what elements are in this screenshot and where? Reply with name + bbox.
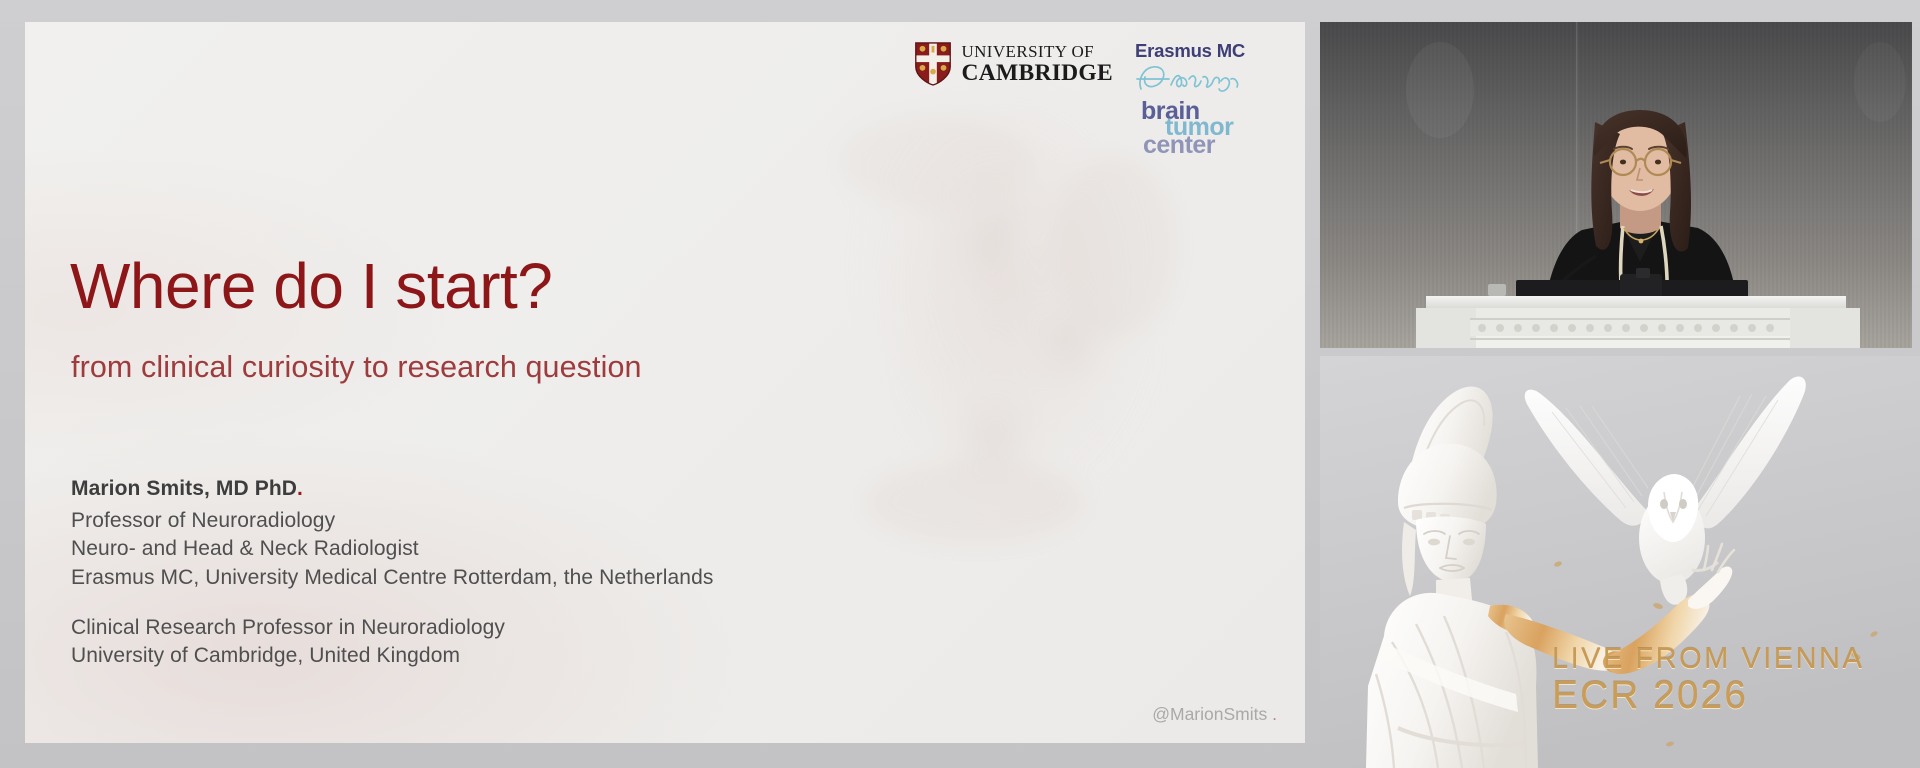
erasmus-signature-mark [1135,59,1255,99]
ecr-branding-text: LIVE FROM VIENNA ECR 2026 [1552,642,1864,717]
social-handle-text: @MarionSmits [1152,704,1267,724]
social-handle-dot: . [1272,704,1277,724]
ecr-tagline: LIVE FROM VIENNA [1552,642,1864,676]
speaker-video-frame [1320,22,1912,348]
btc-word-center: center [1143,135,1285,156]
university-of-cambridge-logo: UNIVERSITY OF CAMBRIDGE [914,42,1113,86]
author-affiliation-1: Professor of Neuroradiology [71,507,713,535]
cambridge-line-1: UNIVERSITY OF [961,43,1113,61]
author-name-dot: . [297,477,303,500]
cambridge-crest-icon [914,42,952,86]
author-name-line: Marion Smits, MD PhD. [71,477,713,501]
author-affiliation-3: Erasmus MC, University Medical Centre Ro… [71,564,713,592]
author-affiliation-4: Clinical Research Professor in Neuroradi… [71,614,713,642]
author-affiliation-secondary: Clinical Research Professor in Neuroradi… [71,614,713,671]
social-handle: @MarionSmits . [1152,704,1277,725]
screen-root: UNIVERSITY OF CAMBRIDGE Erasmus MC [0,0,1920,768]
ecr-event-title: ECR 2026 [1552,676,1864,717]
cambridge-wordmark: UNIVERSITY OF CAMBRIDGE [961,43,1113,85]
presentation-slide: UNIVERSITY OF CAMBRIDGE Erasmus MC [25,22,1305,743]
author-affiliation-2: Neuro- and Head & Neck Radiologist [71,535,713,563]
speaker-video-feed[interactable] [1320,22,1912,348]
cambridge-line-2: CAMBRIDGE [961,61,1113,85]
author-affiliation-5: University of Cambridge, United Kingdom [71,642,713,670]
brain-tumor-center-logo: brain tumor center [1135,101,1285,163]
erasmus-mc-logo-group: Erasmus MC brain tumor cente [1135,30,1285,163]
slide-logo-row: UNIVERSITY OF CAMBRIDGE Erasmus MC [914,30,1285,163]
erasmus-mc-wordmark: Erasmus MC [1135,42,1285,61]
author-block: Marion Smits, MD PhD. Professor of Neuro… [71,477,713,671]
slide-title: Where do I start? [70,254,552,318]
author-name: Marion Smits, MD PhD [71,477,297,500]
ecr-branding-panel: LIVE FROM VIENNA ECR 2026 [1320,356,1920,768]
slide-subtitle: from clinical curiosity to research ques… [71,350,642,385]
